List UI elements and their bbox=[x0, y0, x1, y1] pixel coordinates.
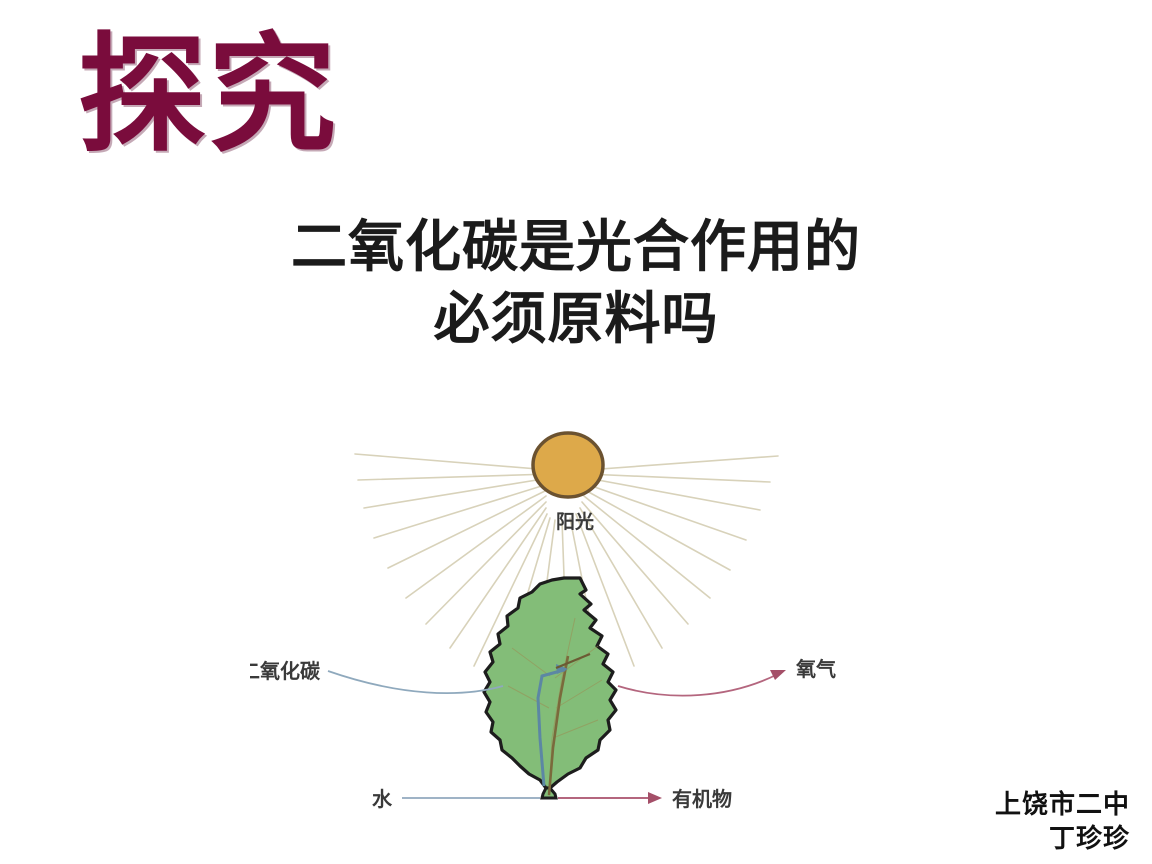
sunlight-label: 阳光 bbox=[556, 510, 594, 533]
organic-arrowhead bbox=[648, 792, 662, 804]
organic-matter-label: 有机物 bbox=[672, 787, 732, 811]
o2-outlet-line bbox=[618, 674, 778, 696]
co2-label: 二氧化碳 bbox=[250, 659, 321, 683]
heading-line-1: 二氧化碳是光合作用的 bbox=[0, 212, 1152, 284]
slide-canvas: { "slide": { "background_color": "#fffff… bbox=[0, 0, 1152, 864]
sun-icon bbox=[533, 433, 603, 497]
oxygen-label: 氧气 bbox=[795, 657, 836, 681]
o2-arrowhead bbox=[770, 670, 786, 680]
co2-inlet-line bbox=[328, 671, 503, 693]
page-title: 探究 bbox=[78, 28, 338, 162]
footer-author: 丁珍珍 bbox=[995, 823, 1130, 856]
footer-credit: 上饶市二中 丁珍珍 bbox=[995, 789, 1130, 856]
photosynthesis-diagram: 阳光 二氧化碳 bbox=[250, 408, 910, 832]
question-heading: 二氧化碳是光合作用的 必须原料吗 bbox=[0, 212, 1152, 355]
water-label: 水 bbox=[372, 787, 393, 811]
heading-line-2: 必须原料吗 bbox=[0, 284, 1152, 356]
footer-school: 上饶市二中 bbox=[995, 789, 1130, 822]
